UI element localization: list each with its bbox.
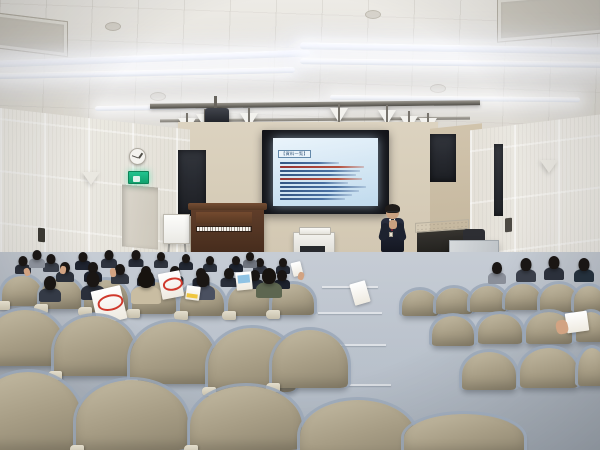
auditorium-chair (300, 400, 416, 450)
audience-member-head (578, 258, 589, 271)
auditorium-chair (190, 386, 302, 450)
slide-text-line (280, 166, 364, 168)
audience-member (78, 252, 87, 272)
piano-keys (196, 226, 252, 232)
audience-member (115, 264, 125, 286)
audience-member (262, 268, 276, 300)
audience-member-head (78, 252, 87, 262)
audience-member-shoulders (256, 282, 282, 298)
audience-member-head (157, 252, 165, 261)
auditorium-chair (130, 322, 216, 384)
audience-member-head (224, 268, 234, 279)
audience-member (520, 258, 531, 284)
recessed-dark-panel (430, 134, 456, 182)
projection-screen: 【資料一覧】 (262, 130, 389, 214)
projected-slide: 【資料一覧】 (273, 138, 378, 206)
audience-member (157, 252, 165, 270)
slide-text-line (280, 190, 359, 192)
audience-member (182, 254, 190, 272)
auditorium-chair (574, 286, 600, 312)
wall-sconce (540, 160, 558, 173)
slide-text-line (280, 182, 348, 184)
audience-member-head (279, 258, 287, 267)
av-device (299, 227, 331, 235)
ceiling-speaker (105, 22, 121, 31)
audience-member (46, 254, 55, 274)
audience-member-head (548, 256, 559, 269)
emergency-exit-sign (128, 171, 149, 184)
audience-member-head (138, 270, 154, 288)
audience-member-head (44, 276, 56, 290)
auditorium-chair (520, 348, 578, 388)
auditorium-chair (578, 348, 600, 386)
audience-member-head (115, 264, 125, 275)
audience-member (224, 268, 234, 289)
audience-member (492, 262, 502, 286)
slide-text-line (280, 198, 345, 200)
audience-hand (109, 268, 116, 278)
stage-spotlight (330, 108, 348, 123)
slide-text-line (280, 174, 356, 176)
audience-member (578, 258, 589, 284)
audience-member-head (46, 254, 55, 264)
handout-document (235, 271, 253, 291)
audience-member-head (256, 258, 264, 267)
auditorium-chair (505, 284, 541, 310)
auditorium-chair (404, 414, 524, 450)
slide-text-line (280, 186, 366, 188)
audience-member-head (492, 262, 502, 274)
audience-member-head (86, 272, 99, 287)
slide-text-line (280, 178, 362, 180)
audience-member (131, 250, 140, 269)
wall-switch-plate (38, 228, 45, 243)
audience-member-head (232, 256, 240, 265)
audience-member-head (104, 250, 113, 260)
upright-piano (191, 207, 264, 256)
audience-member-head (262, 268, 276, 284)
flipchart-whiteboard (163, 214, 190, 244)
audience-member-head (246, 252, 254, 261)
audience-member-shoulders (131, 286, 161, 304)
audience-member (548, 256, 559, 282)
audience-member-head (18, 256, 27, 266)
auditorium-chair (478, 314, 522, 344)
wall-alcove (122, 184, 158, 249)
auditorium-chair (432, 316, 474, 346)
audience-member-head (131, 250, 140, 260)
auditorium-chair (54, 316, 136, 376)
lecture-hall-photo: 【資料一覧】 (0, 0, 600, 450)
audience-member-head (277, 270, 287, 281)
handout-document (158, 270, 185, 300)
wall-switch-plate (505, 218, 512, 233)
audience-member-shoulders (39, 288, 61, 302)
audience-member (44, 276, 56, 304)
audience-member-head (196, 272, 209, 287)
auditorium-chair (470, 286, 506, 312)
wall-clock (129, 148, 146, 165)
audience-member-head (32, 250, 41, 260)
auditorium-chair (76, 380, 188, 450)
doorway-opening (494, 144, 503, 216)
ceiling-speaker (365, 10, 381, 19)
audience-member (246, 252, 254, 270)
wall-sconce (82, 172, 100, 185)
audience-member-head (520, 258, 531, 271)
auditorium-chair (272, 330, 348, 388)
audience-member (32, 250, 41, 270)
audience-member (138, 270, 154, 306)
name-badge (389, 232, 393, 237)
slide-text-line (280, 194, 352, 196)
ceiling-speaker (430, 84, 446, 93)
audience-member (104, 250, 113, 270)
presenter-hands (389, 220, 397, 229)
audience-member-head (182, 254, 190, 263)
slide-text-lines (278, 162, 373, 200)
piano-lid (188, 203, 267, 210)
eyeglasses-icon (387, 211, 399, 213)
auditorium-chair (462, 352, 516, 390)
piano-music-desk (196, 212, 252, 223)
audience-member-head (206, 256, 214, 265)
slide-text-line (280, 162, 339, 164)
slide-title: 【資料一覧】 (278, 150, 311, 157)
auditorium-chair (2, 276, 42, 306)
slide-text-line (280, 170, 360, 172)
handout-document (185, 285, 201, 301)
ceiling-speaker (150, 92, 166, 101)
